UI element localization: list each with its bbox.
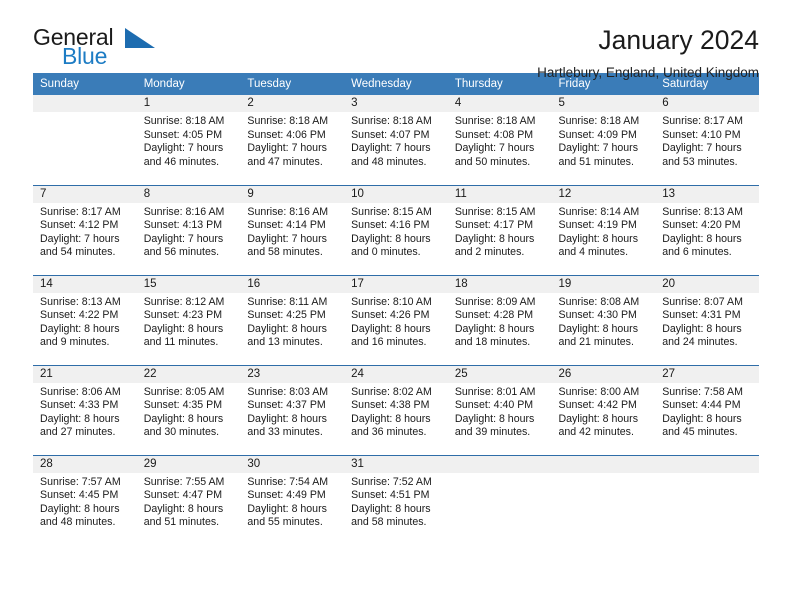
day-cell-content: 30Sunrise: 7:54 AMSunset: 4:49 PMDayligh… [240,456,344,546]
sunrise-text: Sunrise: 8:18 AM [559,115,650,129]
daylight-text-line1: Daylight: 8 hours [247,503,338,517]
day-info: Sunrise: 8:18 AMSunset: 4:07 PMDaylight:… [344,112,448,169]
day-cell-content: 2Sunrise: 8:18 AMSunset: 4:06 PMDaylight… [240,95,344,185]
calendar-day-cell[interactable]: 19Sunrise: 8:08 AMSunset: 4:30 PMDayligh… [552,275,656,365]
day-cell-content: 15Sunrise: 8:12 AMSunset: 4:23 PMDayligh… [137,276,241,365]
day-number: 24 [344,366,448,383]
sunset-text: Sunset: 4:44 PM [662,399,753,413]
sunrise-text: Sunrise: 8:08 AM [559,296,650,310]
sunset-text: Sunset: 4:06 PM [247,129,338,143]
calendar-day-cell[interactable]: 25Sunrise: 8:01 AMSunset: 4:40 PMDayligh… [448,365,552,455]
sunset-text: Sunset: 4:13 PM [144,219,235,233]
daylight-text-line2: and 47 minutes. [247,156,338,170]
day-cell-content: 3Sunrise: 8:18 AMSunset: 4:07 PMDaylight… [344,95,448,185]
day-cell-content: 21Sunrise: 8:06 AMSunset: 4:33 PMDayligh… [33,366,137,455]
day-info: Sunrise: 8:11 AMSunset: 4:25 PMDaylight:… [240,293,344,350]
day-cell-content: 20Sunrise: 8:07 AMSunset: 4:31 PMDayligh… [655,276,759,365]
day-info: Sunrise: 8:18 AMSunset: 4:06 PMDaylight:… [240,112,344,169]
calendar-page: General Blue January 2024 Hartlebury, En… [0,0,792,612]
day-cell-content: 18Sunrise: 8:09 AMSunset: 4:28 PMDayligh… [448,276,552,365]
sunset-text: Sunset: 4:07 PM [351,129,442,143]
daylight-text-line2: and 45 minutes. [662,426,753,440]
sunset-text: Sunset: 4:08 PM [455,129,546,143]
day-number: 11 [448,186,552,203]
day-cell-content: 27Sunrise: 7:58 AMSunset: 4:44 PMDayligh… [655,366,759,455]
daylight-text-line1: Daylight: 8 hours [144,323,235,337]
sunrise-text: Sunrise: 8:12 AM [144,296,235,310]
day-number: 10 [344,186,448,203]
day-info: Sunrise: 8:13 AMSunset: 4:20 PMDaylight:… [655,203,759,260]
daylight-text-line2: and 48 minutes. [351,156,442,170]
day-number: 16 [240,276,344,293]
daylight-text-line2: and 51 minutes. [144,516,235,530]
day-info: Sunrise: 8:06 AMSunset: 4:33 PMDaylight:… [33,383,137,440]
day-number: 4 [448,95,552,112]
daylight-text-line2: and 58 minutes. [351,516,442,530]
day-cell-content: 7Sunrise: 8:17 AMSunset: 4:12 PMDaylight… [33,186,137,275]
sunrise-text: Sunrise: 8:01 AM [455,386,546,400]
day-info: Sunrise: 8:03 AMSunset: 4:37 PMDaylight:… [240,383,344,440]
day-cell-content: 26Sunrise: 8:00 AMSunset: 4:42 PMDayligh… [552,366,656,455]
day-info: Sunrise: 8:09 AMSunset: 4:28 PMDaylight:… [448,293,552,350]
day-cell-content: 8Sunrise: 8:16 AMSunset: 4:13 PMDaylight… [137,186,241,275]
sunrise-text: Sunrise: 8:02 AM [351,386,442,400]
calendar-empty-cell [552,455,656,545]
sunrise-text: Sunrise: 8:00 AM [559,386,650,400]
day-number: 15 [137,276,241,293]
page-header: General Blue January 2024 Hartlebury, En… [33,0,759,70]
daylight-text-line1: Daylight: 7 hours [144,233,235,247]
sunset-text: Sunset: 4:30 PM [559,309,650,323]
day-cell-content: 17Sunrise: 8:10 AMSunset: 4:26 PMDayligh… [344,276,448,365]
day-info: Sunrise: 8:01 AMSunset: 4:40 PMDaylight:… [448,383,552,440]
daylight-text-line2: and 50 minutes. [455,156,546,170]
daylight-text-line1: Daylight: 8 hours [559,323,650,337]
weekday-header-monday: Monday [137,73,241,95]
day-cell-content: 9Sunrise: 8:16 AMSunset: 4:14 PMDaylight… [240,186,344,275]
weekday-header-wednesday: Wednesday [344,73,448,95]
calendar-week-row: 14Sunrise: 8:13 AMSunset: 4:22 PMDayligh… [33,275,759,365]
sunrise-text: Sunrise: 8:13 AM [662,206,753,220]
day-cell-content: 14Sunrise: 8:13 AMSunset: 4:22 PMDayligh… [33,276,137,365]
sunrise-text: Sunrise: 8:15 AM [455,206,546,220]
sunset-text: Sunset: 4:26 PM [351,309,442,323]
daylight-text-line1: Daylight: 8 hours [144,503,235,517]
day-info: Sunrise: 7:57 AMSunset: 4:45 PMDaylight:… [33,473,137,530]
weekday-header-tuesday: Tuesday [240,73,344,95]
sunrise-text: Sunrise: 8:14 AM [559,206,650,220]
calendar-day-cell[interactable]: 22Sunrise: 8:05 AMSunset: 4:35 PMDayligh… [137,365,241,455]
day-info: Sunrise: 8:17 AMSunset: 4:10 PMDaylight:… [655,112,759,169]
day-cell-content [448,456,552,546]
calendar-day-cell[interactable]: 5Sunrise: 8:18 AMSunset: 4:09 PMDaylight… [552,95,656,185]
sunrise-text: Sunrise: 8:18 AM [455,115,546,129]
sunrise-text: Sunrise: 8:06 AM [40,386,131,400]
sunrise-text: Sunrise: 8:13 AM [40,296,131,310]
day-cell-content: 13Sunrise: 8:13 AMSunset: 4:20 PMDayligh… [655,186,759,275]
day-number: 23 [240,366,344,383]
daylight-text-line1: Daylight: 8 hours [662,413,753,427]
day-cell-content: 10Sunrise: 8:15 AMSunset: 4:16 PMDayligh… [344,186,448,275]
calendar-table: Sunday Monday Tuesday Wednesday Thursday… [33,73,759,545]
sunrise-text: Sunrise: 8:18 AM [247,115,338,129]
daylight-text-line2: and 21 minutes. [559,336,650,350]
sunrise-text: Sunrise: 8:17 AM [40,206,131,220]
daylight-text-line1: Daylight: 8 hours [40,413,131,427]
day-number: 26 [552,366,656,383]
day-cell-content: 29Sunrise: 7:55 AMSunset: 4:47 PMDayligh… [137,456,241,546]
sunset-text: Sunset: 4:47 PM [144,489,235,503]
daylight-text-line2: and 6 minutes. [662,246,753,260]
sunset-text: Sunset: 4:05 PM [144,129,235,143]
sunset-text: Sunset: 4:28 PM [455,309,546,323]
day-cell-content: 19Sunrise: 8:08 AMSunset: 4:30 PMDayligh… [552,276,656,365]
daylight-text-line1: Daylight: 8 hours [351,323,442,337]
daylight-text-line2: and 11 minutes. [144,336,235,350]
day-number: 6 [655,95,759,112]
day-cell-content: 4Sunrise: 8:18 AMSunset: 4:08 PMDaylight… [448,95,552,185]
daylight-text-line1: Daylight: 8 hours [662,323,753,337]
sunrise-text: Sunrise: 8:16 AM [247,206,338,220]
sunrise-text: Sunrise: 8:09 AM [455,296,546,310]
page-title: January 2024 [537,26,759,55]
day-info: Sunrise: 8:18 AMSunset: 4:08 PMDaylight:… [448,112,552,169]
day-cell-content [552,456,656,546]
day-info: Sunrise: 7:58 AMSunset: 4:44 PMDaylight:… [655,383,759,440]
sunset-text: Sunset: 4:10 PM [662,129,753,143]
calendar-day-cell[interactable]: 15Sunrise: 8:12 AMSunset: 4:23 PMDayligh… [137,275,241,365]
sunset-text: Sunset: 4:16 PM [351,219,442,233]
sunset-text: Sunset: 4:19 PM [559,219,650,233]
calendar-week-row: 1Sunrise: 8:18 AMSunset: 4:05 PMDaylight… [33,95,759,185]
day-number: 25 [448,366,552,383]
day-number: 27 [655,366,759,383]
daylight-text-line2: and 55 minutes. [247,516,338,530]
sunset-text: Sunset: 4:31 PM [662,309,753,323]
day-number: 19 [552,276,656,293]
calendar-week-row: 21Sunrise: 8:06 AMSunset: 4:33 PMDayligh… [33,365,759,455]
daylight-text-line1: Daylight: 8 hours [144,413,235,427]
daylight-text-line2: and 27 minutes. [40,426,131,440]
sunrise-text: Sunrise: 8:18 AM [351,115,442,129]
daylight-text-line2: and 2 minutes. [455,246,546,260]
day-cell-content: 16Sunrise: 8:11 AMSunset: 4:25 PMDayligh… [240,276,344,365]
sunset-text: Sunset: 4:45 PM [40,489,131,503]
sunset-text: Sunset: 4:14 PM [247,219,338,233]
sunrise-text: Sunrise: 7:57 AM [40,476,131,490]
daylight-text-line2: and 51 minutes. [559,156,650,170]
day-number [655,456,759,473]
day-number: 22 [137,366,241,383]
day-cell-content: 6Sunrise: 8:17 AMSunset: 4:10 PMDaylight… [655,95,759,185]
calendar-day-cell[interactable]: 20Sunrise: 8:07 AMSunset: 4:31 PMDayligh… [655,275,759,365]
day-number: 8 [137,186,241,203]
logo-text-blue: Blue [62,45,107,68]
sunrise-text: Sunrise: 8:03 AM [247,386,338,400]
daylight-text-line1: Daylight: 8 hours [662,233,753,247]
daylight-text-line2: and 42 minutes. [559,426,650,440]
calendar-day-cell[interactable]: 27Sunrise: 7:58 AMSunset: 4:44 PMDayligh… [655,365,759,455]
calendar-day-cell[interactable]: 1Sunrise: 8:18 AMSunset: 4:05 PMDaylight… [137,95,241,185]
sunrise-text: Sunrise: 8:15 AM [351,206,442,220]
daylight-text-line1: Daylight: 7 hours [662,142,753,156]
day-cell-content: 28Sunrise: 7:57 AMSunset: 4:45 PMDayligh… [33,456,137,546]
daylight-text-line1: Daylight: 8 hours [455,323,546,337]
daylight-text-line1: Daylight: 8 hours [559,233,650,247]
day-cell-content: 22Sunrise: 8:05 AMSunset: 4:35 PMDayligh… [137,366,241,455]
day-cell-content: 1Sunrise: 8:18 AMSunset: 4:05 PMDaylight… [137,95,241,185]
calendar-day-cell[interactable]: 21Sunrise: 8:06 AMSunset: 4:33 PMDayligh… [33,365,137,455]
day-number [448,456,552,473]
day-number: 5 [552,95,656,112]
day-number [552,456,656,473]
sunrise-text: Sunrise: 7:58 AM [662,386,753,400]
day-info: Sunrise: 8:16 AMSunset: 4:14 PMDaylight:… [240,203,344,260]
day-info: Sunrise: 8:12 AMSunset: 4:23 PMDaylight:… [137,293,241,350]
calendar-day-cell[interactable]: 4Sunrise: 8:18 AMSunset: 4:08 PMDaylight… [448,95,552,185]
daylight-text-line2: and 58 minutes. [247,246,338,260]
daylight-text-line1: Daylight: 7 hours [247,233,338,247]
sunset-text: Sunset: 4:22 PM [40,309,131,323]
calendar-day-cell[interactable]: 17Sunrise: 8:10 AMSunset: 4:26 PMDayligh… [344,275,448,365]
daylight-text-line1: Daylight: 8 hours [455,233,546,247]
sunset-text: Sunset: 4:20 PM [662,219,753,233]
daylight-text-line1: Daylight: 8 hours [247,323,338,337]
calendar-body: 1Sunrise: 8:18 AMSunset: 4:05 PMDaylight… [33,95,759,545]
daylight-text-line1: Daylight: 7 hours [351,142,442,156]
daylight-text-line1: Daylight: 7 hours [559,142,650,156]
day-number: 18 [448,276,552,293]
sunset-text: Sunset: 4:33 PM [40,399,131,413]
sunset-text: Sunset: 4:09 PM [559,129,650,143]
sunset-text: Sunset: 4:42 PM [559,399,650,413]
day-cell-content: 11Sunrise: 8:15 AMSunset: 4:17 PMDayligh… [448,186,552,275]
day-info: Sunrise: 8:16 AMSunset: 4:13 PMDaylight:… [137,203,241,260]
daylight-text-line2: and 39 minutes. [455,426,546,440]
daylight-text-line2: and 9 minutes. [40,336,131,350]
day-cell-content: 12Sunrise: 8:14 AMSunset: 4:19 PMDayligh… [552,186,656,275]
sunset-text: Sunset: 4:37 PM [247,399,338,413]
day-cell-content: 23Sunrise: 8:03 AMSunset: 4:37 PMDayligh… [240,366,344,455]
day-info: Sunrise: 7:54 AMSunset: 4:49 PMDaylight:… [240,473,344,530]
day-number: 3 [344,95,448,112]
day-cell-content: 31Sunrise: 7:52 AMSunset: 4:51 PMDayligh… [344,456,448,546]
day-number [33,95,137,112]
day-info: Sunrise: 8:15 AMSunset: 4:17 PMDaylight:… [448,203,552,260]
day-info: Sunrise: 7:52 AMSunset: 4:51 PMDaylight:… [344,473,448,530]
daylight-text-line2: and 46 minutes. [144,156,235,170]
calendar-day-cell[interactable]: 26Sunrise: 8:00 AMSunset: 4:42 PMDayligh… [552,365,656,455]
sunrise-text: Sunrise: 8:05 AM [144,386,235,400]
day-info: Sunrise: 8:02 AMSunset: 4:38 PMDaylight:… [344,383,448,440]
day-info: Sunrise: 8:07 AMSunset: 4:31 PMDaylight:… [655,293,759,350]
calendar-day-cell[interactable]: 23Sunrise: 8:03 AMSunset: 4:37 PMDayligh… [240,365,344,455]
daylight-text-line2: and 0 minutes. [351,246,442,260]
calendar-empty-cell [655,455,759,545]
daylight-text-line1: Daylight: 7 hours [144,142,235,156]
day-info: Sunrise: 8:00 AMSunset: 4:42 PMDaylight:… [552,383,656,440]
daylight-text-line2: and 56 minutes. [144,246,235,260]
daylight-text-line1: Daylight: 8 hours [351,503,442,517]
day-number: 21 [33,366,137,383]
day-info: Sunrise: 8:15 AMSunset: 4:16 PMDaylight:… [344,203,448,260]
daylight-text-line2: and 24 minutes. [662,336,753,350]
day-cell-content: 5Sunrise: 8:18 AMSunset: 4:09 PMDaylight… [552,95,656,185]
sunset-text: Sunset: 4:51 PM [351,489,442,503]
daylight-text-line1: Daylight: 7 hours [455,142,546,156]
calendar-day-cell[interactable]: 24Sunrise: 8:02 AMSunset: 4:38 PMDayligh… [344,365,448,455]
day-info: Sunrise: 7:55 AMSunset: 4:47 PMDaylight:… [137,473,241,530]
calendar-day-cell[interactable]: 2Sunrise: 8:18 AMSunset: 4:06 PMDaylight… [240,95,344,185]
calendar-day-cell[interactable]: 7Sunrise: 8:17 AMSunset: 4:12 PMDaylight… [33,185,137,275]
calendar-day-cell[interactable]: 16Sunrise: 8:11 AMSunset: 4:25 PMDayligh… [240,275,344,365]
daylight-text-line1: Daylight: 8 hours [247,413,338,427]
day-info: Sunrise: 8:08 AMSunset: 4:30 PMDaylight:… [552,293,656,350]
sunset-text: Sunset: 4:25 PM [247,309,338,323]
daylight-text-line2: and 33 minutes. [247,426,338,440]
weekday-header-thursday: Thursday [448,73,552,95]
day-number: 14 [33,276,137,293]
day-number: 20 [655,276,759,293]
daylight-text-line1: Daylight: 8 hours [351,413,442,427]
daylight-text-line1: Daylight: 8 hours [40,323,131,337]
calendar-day-cell[interactable]: 28Sunrise: 7:57 AMSunset: 4:45 PMDayligh… [33,455,137,545]
daylight-text-line1: Daylight: 7 hours [40,233,131,247]
day-number: 28 [33,456,137,473]
calendar-week-row: 7Sunrise: 8:17 AMSunset: 4:12 PMDaylight… [33,185,759,275]
calendar-day-cell[interactable]: 18Sunrise: 8:09 AMSunset: 4:28 PMDayligh… [448,275,552,365]
calendar-day-cell[interactable]: 30Sunrise: 7:54 AMSunset: 4:49 PMDayligh… [240,455,344,545]
day-cell-content [33,95,137,185]
daylight-text-line2: and 54 minutes. [40,246,131,260]
calendar-day-cell[interactable]: 13Sunrise: 8:13 AMSunset: 4:20 PMDayligh… [655,185,759,275]
calendar-day-cell[interactable]: 11Sunrise: 8:15 AMSunset: 4:17 PMDayligh… [448,185,552,275]
sunrise-text: Sunrise: 8:11 AM [247,296,338,310]
daylight-text-line2: and 53 minutes. [662,156,753,170]
sunrise-text: Sunrise: 7:55 AM [144,476,235,490]
sunrise-text: Sunrise: 8:07 AM [662,296,753,310]
day-number: 1 [137,95,241,112]
daylight-text-line2: and 48 minutes. [40,516,131,530]
daylight-text-line2: and 18 minutes. [455,336,546,350]
sunset-text: Sunset: 4:40 PM [455,399,546,413]
day-number: 29 [137,456,241,473]
calendar-day-cell[interactable]: 6Sunrise: 8:17 AMSunset: 4:10 PMDaylight… [655,95,759,185]
day-info: Sunrise: 8:18 AMSunset: 4:09 PMDaylight:… [552,112,656,169]
day-number: 13 [655,186,759,203]
calendar-day-cell[interactable]: 9Sunrise: 8:16 AMSunset: 4:14 PMDaylight… [240,185,344,275]
day-cell-content: 24Sunrise: 8:02 AMSunset: 4:38 PMDayligh… [344,366,448,455]
calendar-day-cell[interactable]: 29Sunrise: 7:55 AMSunset: 4:47 PMDayligh… [137,455,241,545]
day-info: Sunrise: 8:14 AMSunset: 4:19 PMDaylight:… [552,203,656,260]
day-number: 9 [240,186,344,203]
calendar-day-cell[interactable]: 10Sunrise: 8:15 AMSunset: 4:16 PMDayligh… [344,185,448,275]
sunrise-text: Sunrise: 8:17 AM [662,115,753,129]
sunrise-text: Sunrise: 8:10 AM [351,296,442,310]
day-info: Sunrise: 8:18 AMSunset: 4:05 PMDaylight:… [137,112,241,169]
sunrise-text: Sunrise: 8:16 AM [144,206,235,220]
day-number: 2 [240,95,344,112]
general-blue-logo[interactable]: General Blue [33,26,163,72]
daylight-text-line2: and 16 minutes. [351,336,442,350]
daylight-text-line1: Daylight: 8 hours [455,413,546,427]
sunrise-text: Sunrise: 7:52 AM [351,476,442,490]
sunset-text: Sunset: 4:12 PM [40,219,131,233]
calendar-day-cell[interactable]: 12Sunrise: 8:14 AMSunset: 4:19 PMDayligh… [552,185,656,275]
sunset-text: Sunset: 4:38 PM [351,399,442,413]
daylight-text-line1: Daylight: 7 hours [247,142,338,156]
weekday-header-sunday: Sunday [33,73,137,95]
day-info: Sunrise: 8:05 AMSunset: 4:35 PMDaylight:… [137,383,241,440]
day-number: 12 [552,186,656,203]
daylight-text-line1: Daylight: 8 hours [351,233,442,247]
daylight-text-line1: Daylight: 8 hours [40,503,131,517]
calendar-day-cell[interactable]: 3Sunrise: 8:18 AMSunset: 4:07 PMDaylight… [344,95,448,185]
calendar-day-cell[interactable]: 8Sunrise: 8:16 AMSunset: 4:13 PMDaylight… [137,185,241,275]
day-info: Sunrise: 8:17 AMSunset: 4:12 PMDaylight:… [33,203,137,260]
sunrise-text: Sunrise: 8:18 AM [144,115,235,129]
day-info: Sunrise: 8:13 AMSunset: 4:22 PMDaylight:… [33,293,137,350]
sunrise-text: Sunrise: 7:54 AM [247,476,338,490]
calendar-day-cell[interactable]: 14Sunrise: 8:13 AMSunset: 4:22 PMDayligh… [33,275,137,365]
daylight-text-line2: and 30 minutes. [144,426,235,440]
calendar-empty-cell [33,95,137,185]
sunset-text: Sunset: 4:23 PM [144,309,235,323]
day-cell-content: 25Sunrise: 8:01 AMSunset: 4:40 PMDayligh… [448,366,552,455]
day-info: Sunrise: 8:10 AMSunset: 4:26 PMDaylight:… [344,293,448,350]
day-cell-content [655,456,759,546]
calendar-week-row: 28Sunrise: 7:57 AMSunset: 4:45 PMDayligh… [33,455,759,545]
daylight-text-line1: Daylight: 8 hours [559,413,650,427]
calendar-day-cell[interactable]: 31Sunrise: 7:52 AMSunset: 4:51 PMDayligh… [344,455,448,545]
calendar-empty-cell [448,455,552,545]
daylight-text-line2: and 13 minutes. [247,336,338,350]
day-number: 7 [33,186,137,203]
day-number: 30 [240,456,344,473]
sunset-text: Sunset: 4:35 PM [144,399,235,413]
sunset-text: Sunset: 4:17 PM [455,219,546,233]
daylight-text-line2: and 4 minutes. [559,246,650,260]
sunset-text: Sunset: 4:49 PM [247,489,338,503]
day-number: 17 [344,276,448,293]
daylight-text-line2: and 36 minutes. [351,426,442,440]
logo-triangle-icon [125,28,155,48]
day-number: 31 [344,456,448,473]
title-block: January 2024 Hartlebury, England, United… [537,26,759,80]
